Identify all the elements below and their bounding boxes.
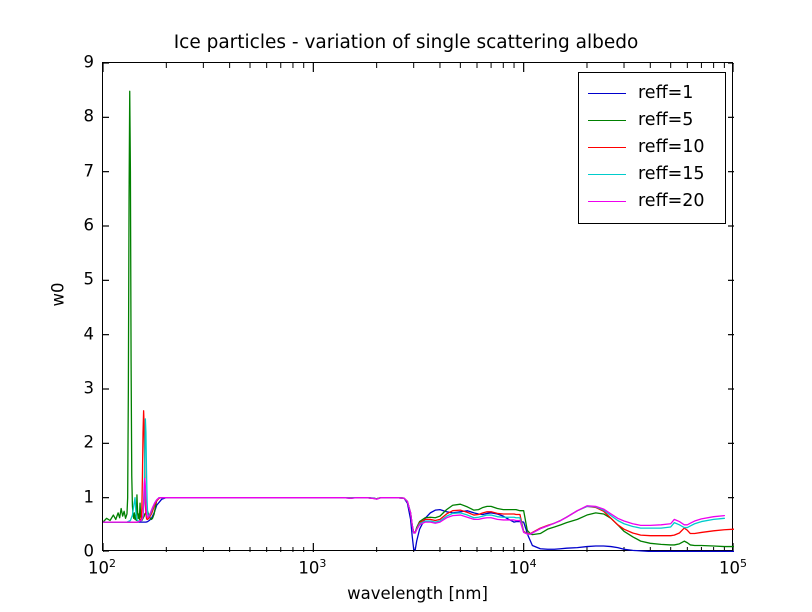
y-tick-label: 2 [64,433,94,452]
legend-item-label: reff=5 [638,112,693,130]
matplotlib-figure: Ice particles - variation of single scat… [0,0,812,612]
legend-item[interactable]: reff=5 [588,107,716,134]
legend-item-label: reff=10 [638,139,705,157]
legend-item[interactable]: reff=10 [588,134,716,161]
legend-line-swatch [588,174,626,175]
legend-item[interactable]: reff=15 [588,161,716,188]
y-tick-label: 9 [64,53,94,72]
legend-line-swatch [588,147,626,148]
legend-item-label: reff=1 [638,85,693,103]
page-title: Ice particles - variation of single scat… [0,32,812,53]
legend-line-swatch [588,201,626,202]
y-tick-label: 3 [64,379,94,398]
y-tick-label-group: 0123456789 [62,62,94,551]
legend-item-label: reff=15 [638,166,705,184]
legend-line-swatch [588,120,626,121]
x-tick-label-group: 102103104105 [102,557,733,587]
legend-line-swatch [588,93,626,94]
legend: reff=1reff=5reff=10reff=15reff=20 [578,72,726,224]
series-line-3 [103,411,734,536]
legend-item-label: reff=20 [638,193,705,211]
x-tick-label: 105 [719,557,747,578]
y-tick-label: 8 [64,107,94,126]
y-tick-label: 1 [64,487,94,506]
x-tick-label: 102 [88,557,116,578]
x-tick-label: 103 [298,557,326,578]
legend-item[interactable]: reff=20 [588,188,716,215]
legend-item[interactable]: reff=1 [588,80,716,107]
x-axis-label: wavelength [nm] [102,584,733,603]
y-tick-label: 5 [64,270,94,289]
y-tick-label: 7 [64,161,94,180]
series-line-4 [103,419,724,534]
y-tick-label: 6 [64,216,94,235]
y-tick-label: 4 [64,324,94,343]
x-tick-label: 104 [509,557,537,578]
